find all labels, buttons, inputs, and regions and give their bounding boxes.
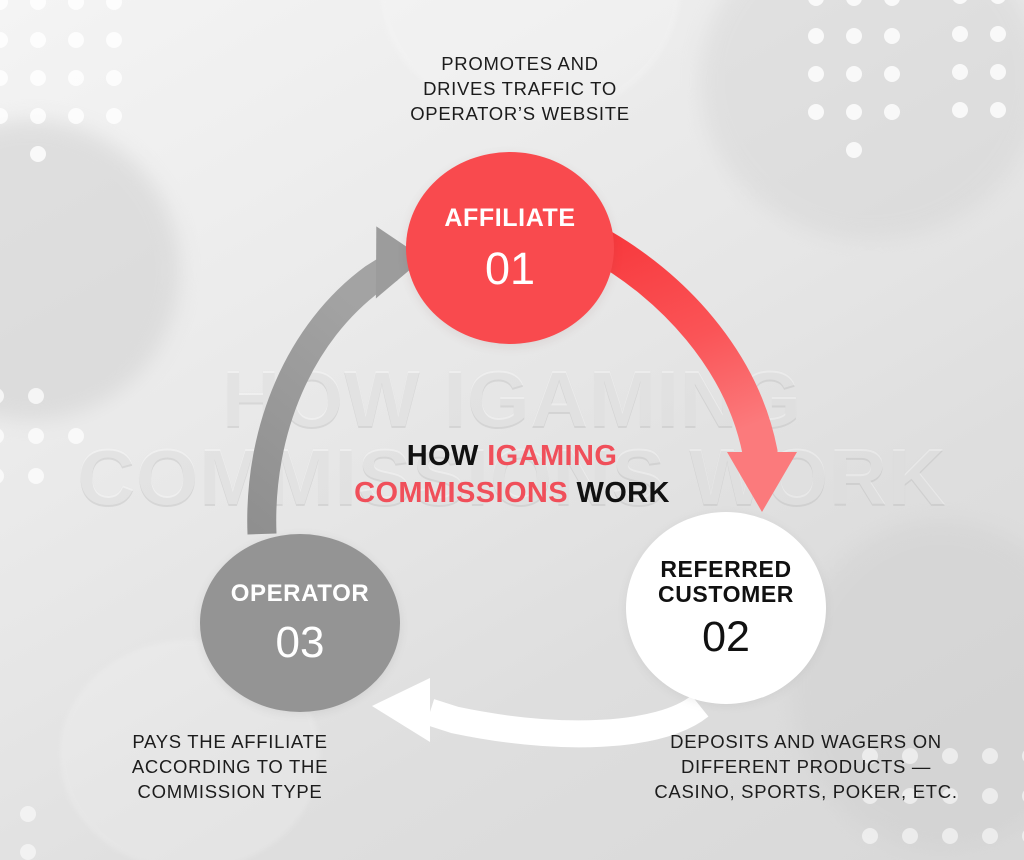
node-referred-customer-label: REFERRED CUSTOMER xyxy=(658,557,794,606)
title-word-commissions: COMMISSIONS xyxy=(354,477,576,509)
title-word-how: HOW xyxy=(407,440,488,472)
node-referred-customer-number: 02 xyxy=(702,616,750,659)
caption-referred-customer: DEPOSITS AND WAGERS ON DIFFERENT PRODUCT… xyxy=(632,730,980,804)
infographic-canvas: HOW IGAMING COMMISSIONS WORK HOW IGAMING… xyxy=(0,0,1024,860)
page-title: HOW IGAMING COMMISSIONS WORK xyxy=(312,438,712,512)
node-affiliate-number: 01 xyxy=(485,246,535,291)
node-affiliate-label: AFFILIATE xyxy=(444,205,575,232)
node-operator[interactable]: OPERATOR 03 xyxy=(200,534,400,712)
title-word-work: WORK xyxy=(576,477,669,509)
node-operator-number: 03 xyxy=(276,621,325,665)
node-operator-label: OPERATOR xyxy=(231,581,370,606)
node-affiliate[interactable]: AFFILIATE 01 xyxy=(406,152,614,344)
node-referred-customer[interactable]: REFERRED CUSTOMER 02 xyxy=(626,512,826,704)
title-word-igaming: IGAMING xyxy=(487,440,617,472)
caption-affiliate: PROMOTES AND DRIVES TRAFFIC TO OPERATOR’… xyxy=(360,52,680,126)
caption-operator: PAYS THE AFFILIATE ACCORDING TO THE COMM… xyxy=(96,730,364,804)
